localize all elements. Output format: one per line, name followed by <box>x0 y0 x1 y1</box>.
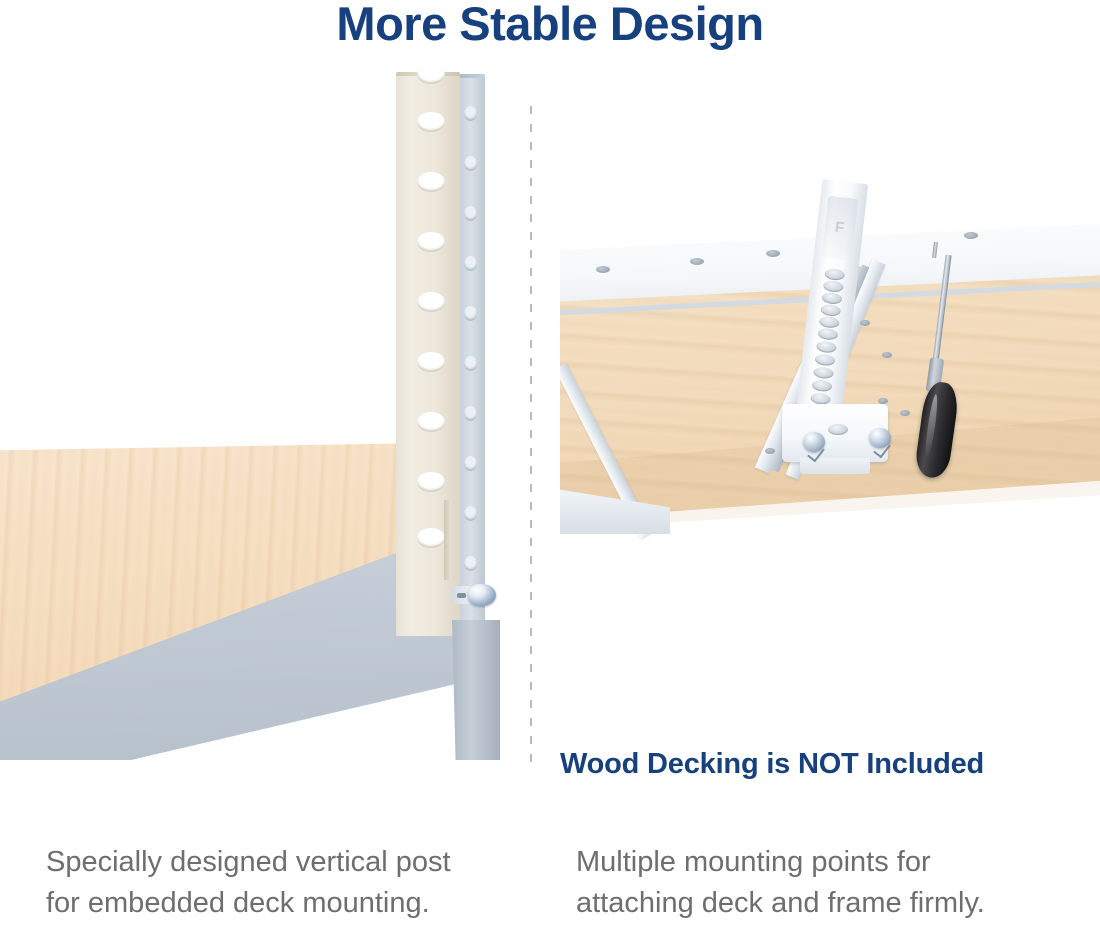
infographic-page: More Stable Design <box>0 0 1100 934</box>
post-front-hole <box>417 232 445 252</box>
plate-center-hole <box>828 424 848 435</box>
post-front-hole <box>417 352 445 372</box>
beam-screw-hole <box>964 232 978 239</box>
wood-decking-note: Wood Decking is NOT Included <box>560 748 1100 781</box>
caption-line: Multiple mounting points for <box>576 842 1086 883</box>
post-front-hole <box>417 528 445 548</box>
post-front-hole <box>417 64 445 84</box>
caption-line: Specially designed vertical post <box>46 842 546 883</box>
post-side-hole <box>464 456 477 471</box>
beam-screw-hole <box>596 266 610 273</box>
caption-line: for embedded deck mounting. <box>46 883 546 924</box>
post-front-hole <box>417 412 445 432</box>
post-mount-hole <box>823 280 844 293</box>
page-title: More Stable Design <box>0 0 1100 50</box>
vertical-post-deck-mounting-photo <box>0 60 520 760</box>
post-mount-hole <box>819 316 840 329</box>
vertical-dashed-divider <box>530 106 532 766</box>
post-side-hole <box>464 206 477 221</box>
post-side-hole <box>464 556 477 571</box>
mounting-plate-notch <box>800 458 870 474</box>
caption-line: attaching deck and frame firmly. <box>576 883 1086 924</box>
post-mount-hole <box>824 268 845 281</box>
beam-screw-hole <box>766 250 780 257</box>
post-side-hole <box>464 106 477 121</box>
beam-screw-hole <box>765 448 775 454</box>
post-mount-hole <box>811 379 832 392</box>
post-mount-hole <box>813 366 834 379</box>
rail-screw-hole <box>900 410 910 416</box>
post-front-hole <box>417 112 445 132</box>
post-side-hole <box>464 406 477 421</box>
post-front-hole <box>417 172 445 192</box>
left-panel-caption: Specially designed vertical post for emb… <box>46 842 546 924</box>
post-lower-leg <box>452 620 500 760</box>
post-front-hole <box>417 292 445 312</box>
post-mount-hole <box>821 292 842 305</box>
bolt-slot <box>457 593 466 598</box>
post-side-hole <box>464 156 477 171</box>
post-embossed-mark: F <box>822 196 859 261</box>
right-panel-caption: Multiple mounting points for attaching d… <box>576 842 1086 924</box>
post-mount-hole <box>816 340 837 353</box>
rail-screw-hole <box>882 352 892 358</box>
post-mount-hole <box>814 353 835 366</box>
post-side-hole <box>464 506 477 521</box>
post-side-hole <box>464 356 477 371</box>
rail-screw-hole <box>860 320 870 326</box>
post-mount-hole <box>817 328 838 341</box>
post-side-hole <box>464 256 477 271</box>
beam-screw-hole <box>690 258 704 265</box>
deck-mounting-tab <box>444 500 451 580</box>
post-mount-hole <box>820 304 841 317</box>
chrome-bolt-head <box>468 584 496 606</box>
post-side-hole <box>464 306 477 321</box>
multiple-mounting-points-photo: F <box>560 170 1100 750</box>
post-front-hole <box>417 472 445 492</box>
